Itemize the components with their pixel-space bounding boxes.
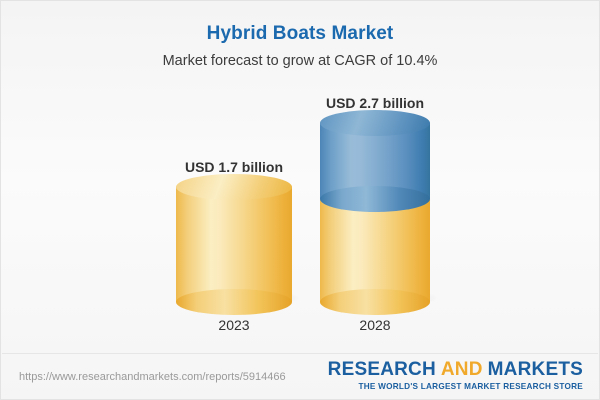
segment-bottom-cap xyxy=(176,289,292,315)
bar-cylinder-2028 xyxy=(320,123,430,302)
cylinder-bar-chart: USD 1.7 billion USD 2.7 billion xyxy=(1,1,600,346)
category-label-2023: 2023 xyxy=(176,317,292,333)
logo-word-markets: MARKETS xyxy=(488,359,583,380)
research-and-markets-logo[interactable]: RESEARCHANDMARKETS THE WORLD'S LARGEST M… xyxy=(328,360,583,391)
bar-segment-2023-base xyxy=(176,187,292,302)
segment-body xyxy=(320,199,430,302)
report-url[interactable]: https://www.researchandmarkets.com/repor… xyxy=(19,371,286,383)
bar-cylinder-2023 xyxy=(176,187,292,302)
bar-segment-2028-base xyxy=(320,199,430,302)
bar-value-label-2023: USD 1.7 billion xyxy=(176,159,292,175)
card-content: Hybrid Boats Market Market forecast to g… xyxy=(1,1,599,399)
logo-tagline: THE WORLD'S LARGEST MARKET RESEARCH STOR… xyxy=(328,383,583,391)
category-label-2028: 2028 xyxy=(319,317,431,333)
logo-word-research: RESEARCH xyxy=(328,359,436,380)
segment-top-cap xyxy=(176,174,292,200)
bar-segment-2028-growth xyxy=(320,123,430,199)
segment-body xyxy=(176,187,292,302)
logo-word-and: AND xyxy=(441,359,483,380)
segment-top-cap xyxy=(320,110,430,136)
market-infographic-card: Hybrid Boats Market Market forecast to g… xyxy=(0,0,600,400)
segment-bottom-cap xyxy=(320,186,430,212)
segment-bottom-cap xyxy=(320,289,430,315)
logo-wordmark: RESEARCHANDMARKETS xyxy=(328,360,583,379)
footer: https://www.researchandmarkets.com/repor… xyxy=(1,354,599,399)
bar-value-label-2028: USD 2.7 billion xyxy=(319,95,431,111)
